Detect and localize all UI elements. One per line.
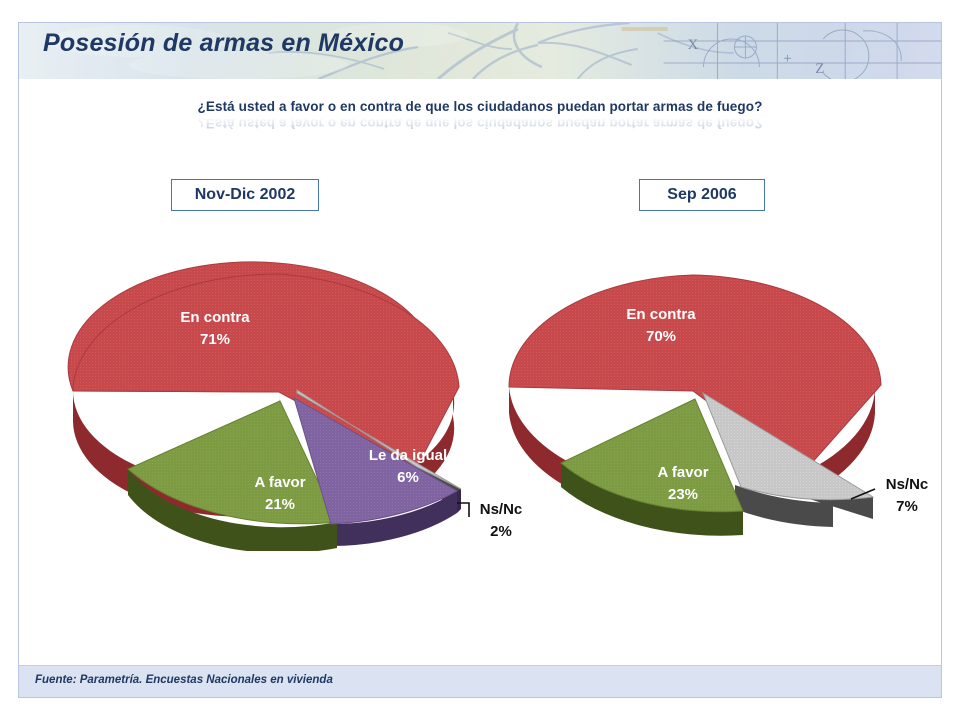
pie-left-slice-igual-edge [457,489,461,513]
pie-right-label-favor-name: A favor [657,464,708,481]
pie-right-label-contra-value: 70% [646,328,676,345]
subtitle-container: ¿Está usted a favor o en contra de que l… [19,99,941,114]
slide-canvas: X Z + Posesión de armas en México Posesi… [18,22,942,698]
pie-left-label-contra-name: En contra [180,309,250,326]
pie-right-label-favor-value: 23% [668,486,698,503]
survey-question-reflection: ¿Está usted a favor o en contra de que l… [19,116,941,131]
pie-chart-nov-dic-2002: En contra 71% A favor 21% Le da igual 6%… [65,241,535,551]
pie-left-label-igual-value: 6% [397,469,419,486]
pie-right-label-nsnc-value: 7% [896,498,918,515]
svg-text:Z: Z [815,61,824,77]
pie-left-label-favor-name: A favor [254,474,305,491]
svg-text:+: + [783,51,791,67]
page-title: Posesión de armas en México [43,29,404,58]
svg-text:X: X [688,37,699,53]
pie-left-label-igual-name: Le da igual [369,447,447,464]
pie-chart-sep-2006: En contra 70% A favor 23% Ns/Nc 7% [503,241,942,541]
pie-left-label-favor-value: 21% [265,496,295,513]
pie-left-label-contra-value: 71% [200,331,230,348]
source-note: Fuente: Parametría. Encuestas Nacionales… [35,674,333,686]
slide-footer-band: Fuente: Parametría. Encuestas Nacionales… [19,665,941,697]
pie-right-label-contra-name: En contra [626,306,696,323]
pie-right-label-nsnc-name: Ns/Nc [886,476,929,493]
chart-title-box-right: Sep 2006 [639,179,765,211]
survey-question: ¿Está usted a favor o en contra de que l… [19,99,941,114]
slide-header-band: X Z + Posesión de armas en México Posesi… [19,23,941,79]
chart-title-box-left: Nov-Dic 2002 [171,179,319,211]
